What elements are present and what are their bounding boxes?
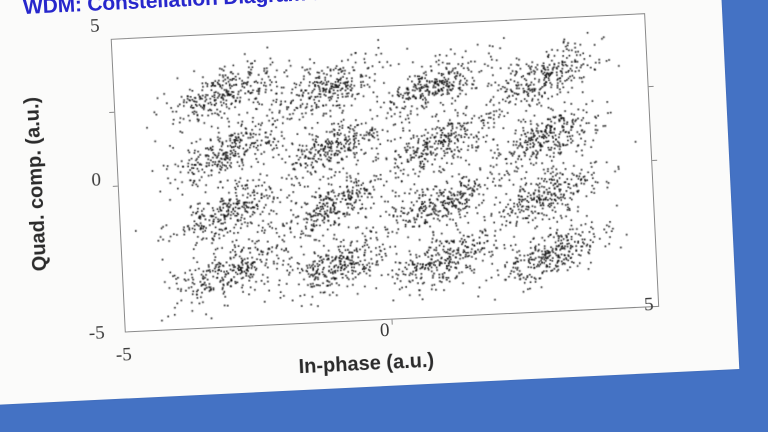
y-tick-right-mid <box>652 160 657 161</box>
constellation-plot <box>111 13 659 332</box>
x-axis-mid-label: 0 <box>380 320 391 342</box>
plot-frame <box>111 13 659 332</box>
y-axis-max-label: 5 <box>90 15 101 37</box>
y-tick-upper <box>109 112 114 113</box>
scatter-plot-canvas <box>112 14 659 332</box>
y-axis-title: Quad. comp. (a.u.) <box>19 59 54 310</box>
y-axis-mid-label: 0 <box>91 169 102 191</box>
y-tick-mid <box>113 186 118 187</box>
y-tick-right-upper <box>649 86 654 87</box>
x-axis-title: In-phase (a.u.) <box>298 350 435 379</box>
y-axis-min-label: -5 <box>88 322 105 345</box>
slide-card: WDM: Constellation Diagram after lin. eq… <box>0 0 739 406</box>
x-axis-min-label: -5 <box>115 344 132 367</box>
x-axis-max-label: 5 <box>644 294 655 316</box>
slide-stage: WDM: Constellation Diagram after lin. eq… <box>0 0 768 432</box>
x-tick-mid <box>392 320 393 325</box>
